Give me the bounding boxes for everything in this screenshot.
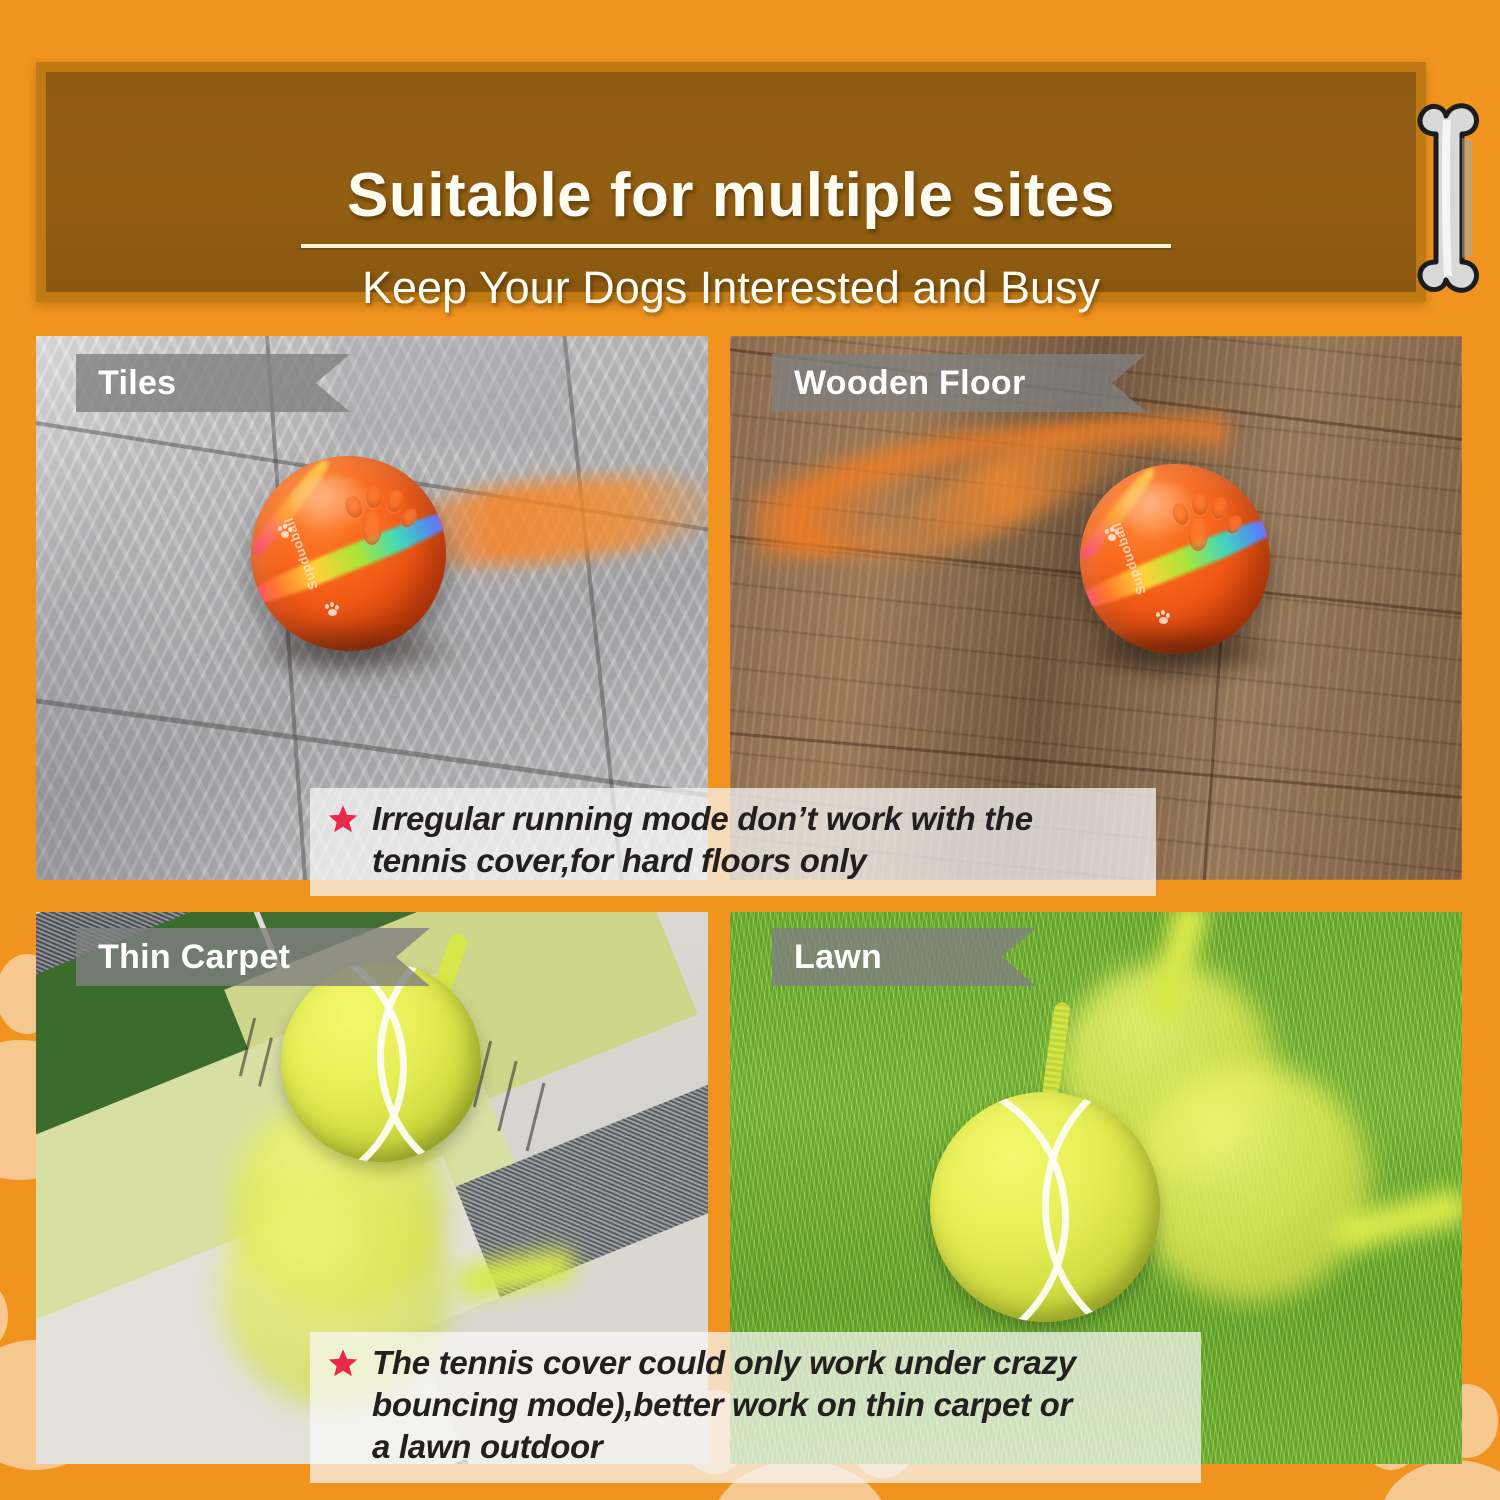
caption-text: Irregular running mode don’t work with t… [372,798,1033,882]
tile-reflection [336,336,566,446]
paw-print-emboss [1171,489,1247,561]
tennis-seam [377,962,481,1162]
panel-label-text: Thin Carpet [98,938,290,977]
product-infographic: Suitable for multiple sites Keep Your Do… [0,0,1500,1500]
tennis-ball [930,1092,1160,1322]
mini-paw-icon [278,526,292,538]
paw-print-emboss [345,481,423,555]
star-icon [328,804,358,839]
tennis-seam [1042,1092,1160,1322]
ball-body: Supduoball [251,456,446,651]
ball-body: Supduoball [1080,464,1270,654]
mini-paw-icon [1156,612,1170,624]
tennis-ball [281,962,481,1162]
page-subtitle: Keep Your Dogs Interested and Busy [46,262,1416,314]
panel-label-tiles: Tiles [76,354,350,412]
panel-label-text: Lawn [794,938,882,977]
caption-line: tennis cover,for hard floors only [372,840,1033,882]
mini-paw-icon [325,604,339,616]
mini-paw-icon [1105,529,1119,541]
caption-tennis-cover-note: The tennis cover could only work under c… [310,1332,1201,1483]
panel-label-text: Wooden Floor [794,364,1026,403]
orange-smart-ball: Supduoball [1080,464,1270,654]
panel-label-thin-carpet: Thin Carpet [76,928,430,986]
caption-line: The tennis cover could only work under c… [372,1342,1076,1384]
panel-label-text: Tiles [98,364,176,403]
ball-shadow [261,636,451,668]
panel-label-wooden-floor: Wooden Floor [772,354,1146,412]
caption-line: Irregular running mode don’t work with t… [372,798,1033,840]
panel-label-lawn: Lawn [772,928,1036,986]
ball-shadow [1088,638,1273,668]
bone-icon [1410,98,1490,298]
caption-line: bouncing mode),better work on thin carpe… [372,1384,1076,1426]
caption-hard-floor-note: Irregular running mode don’t work with t… [310,788,1156,896]
caption-text: The tennis cover could only work under c… [372,1342,1076,1469]
orange-smart-ball: Supduoball [251,456,446,651]
page-title: Suitable for multiple sites [46,160,1416,231]
caption-line: a lawn outdoor [372,1426,1076,1468]
star-icon [328,1348,358,1383]
tennis-ball-motion-blur [1130,1062,1370,1302]
header-banner: Suitable for multiple sites Keep Your Do… [46,72,1416,292]
header-divider [301,244,1171,248]
